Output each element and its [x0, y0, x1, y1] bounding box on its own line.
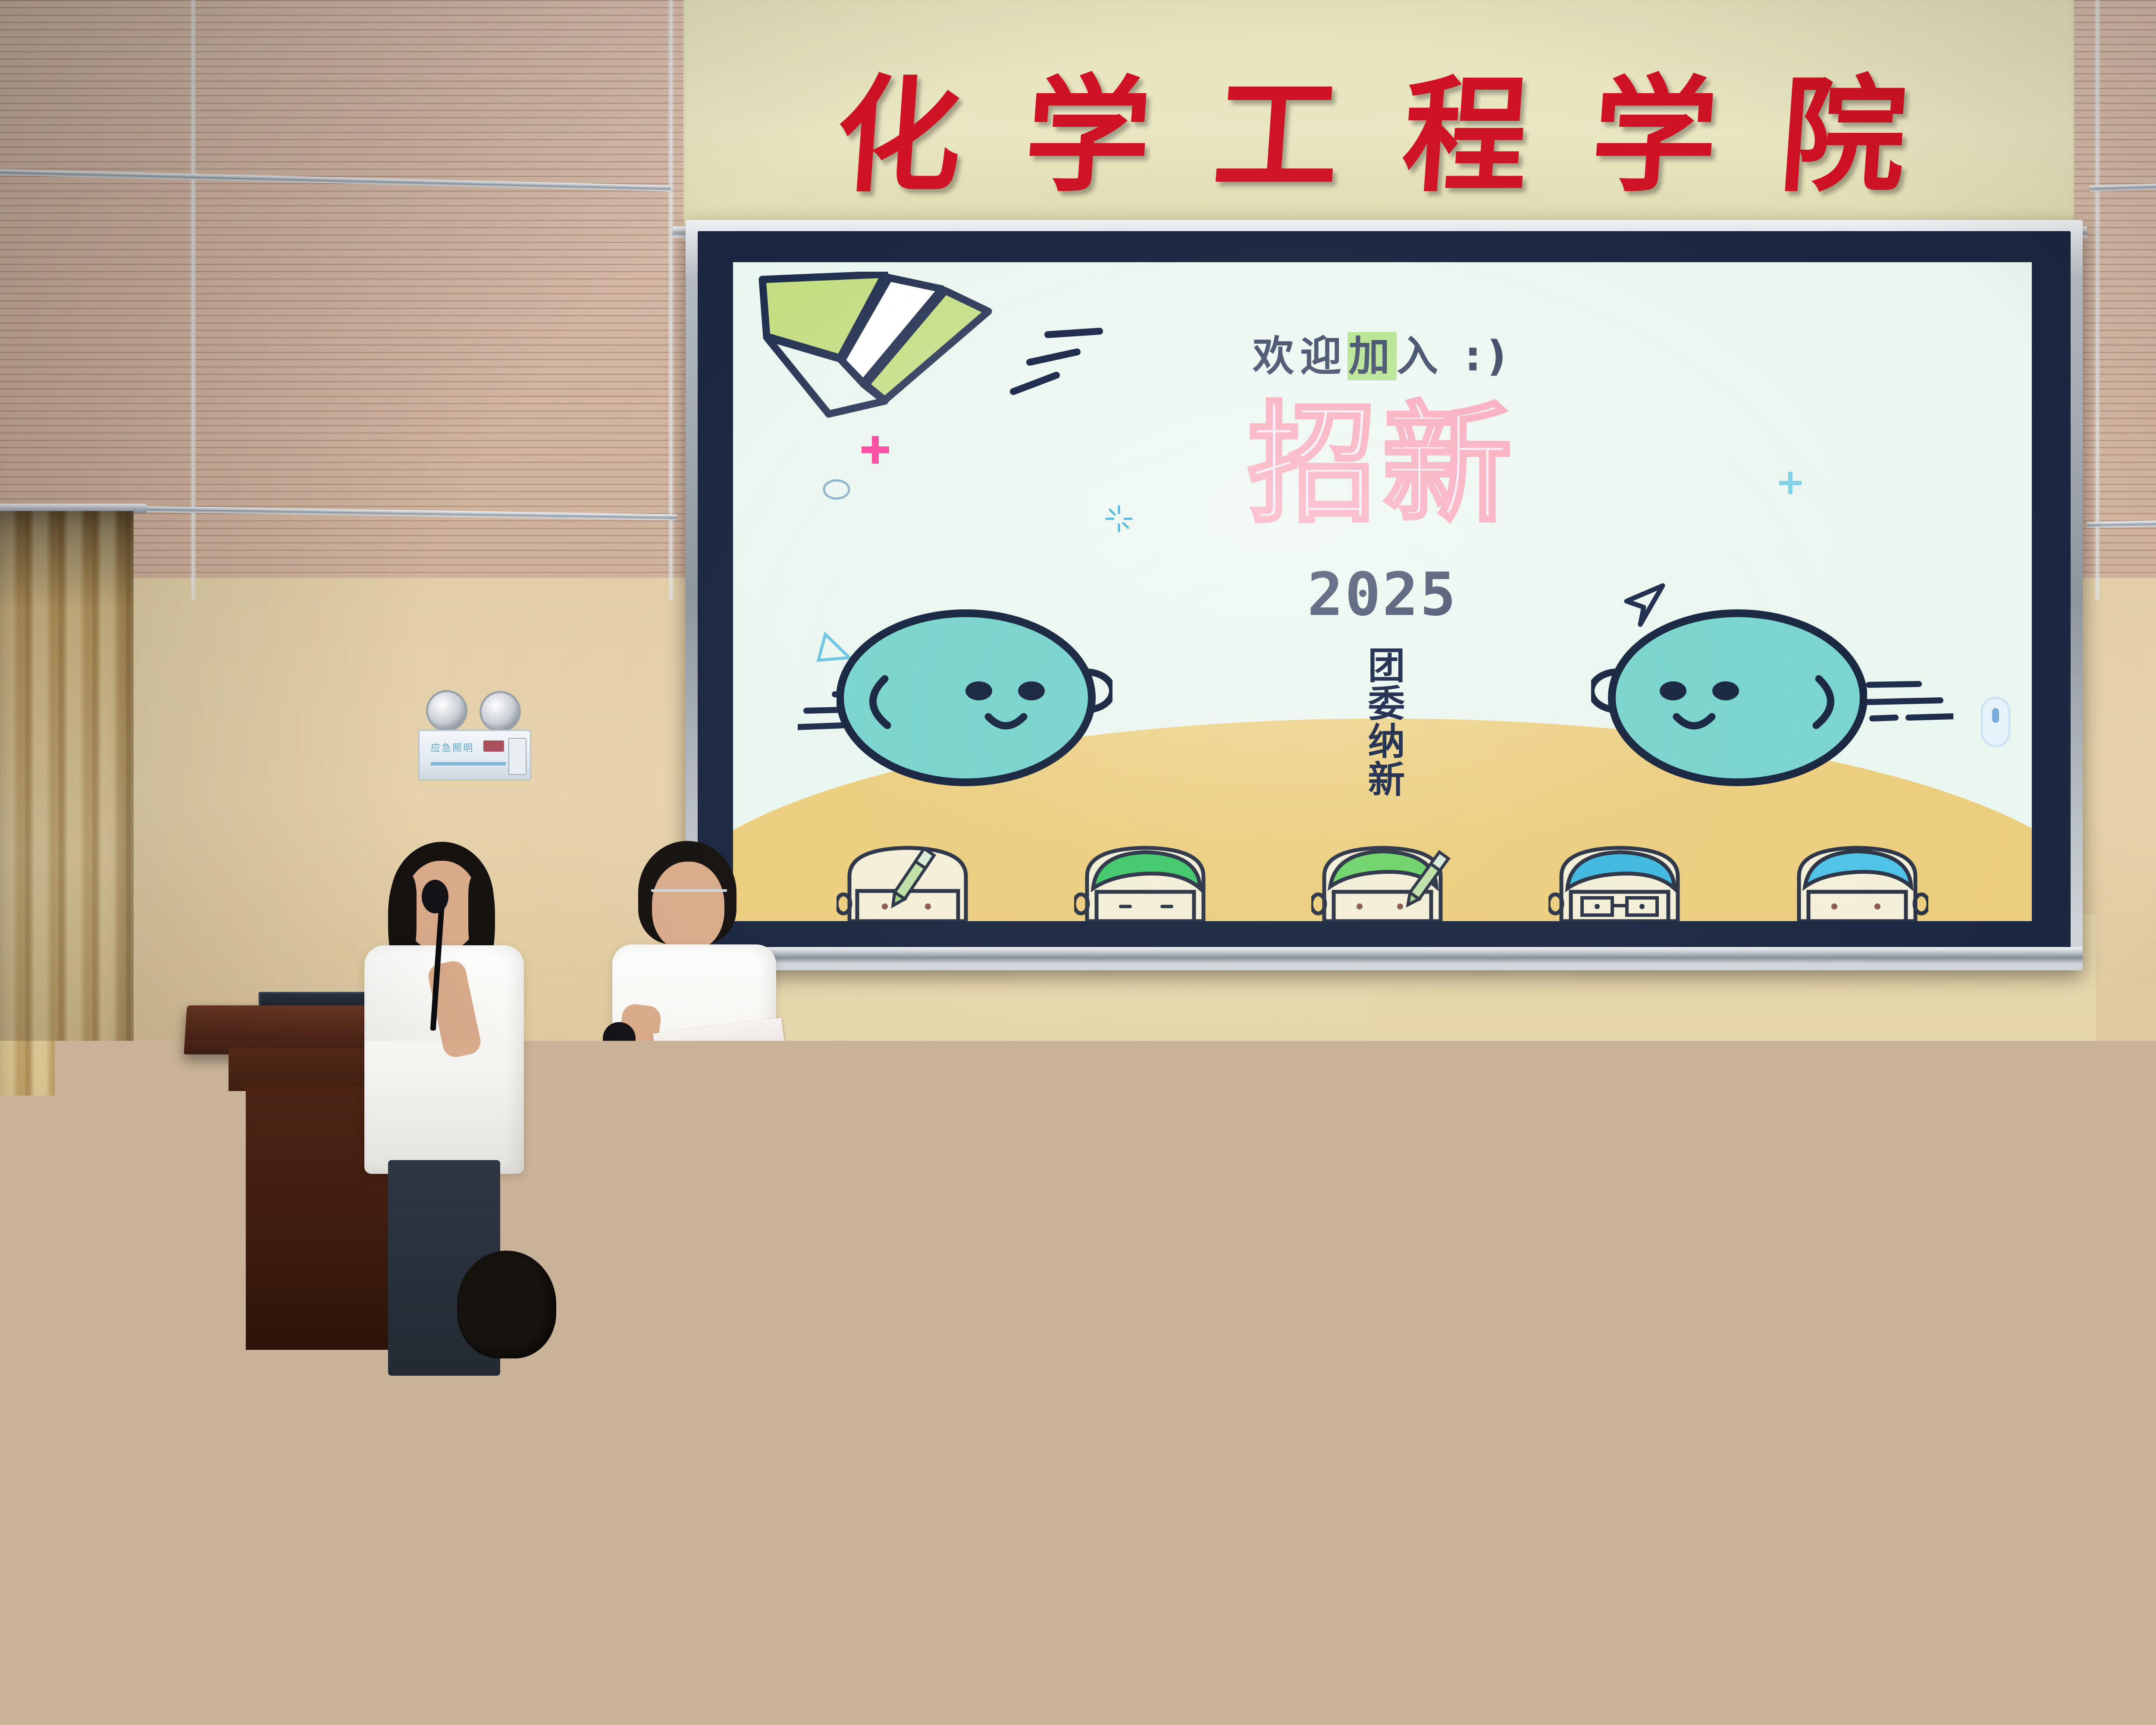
- emergency-lamp: [479, 691, 521, 732]
- audience-head: [129, 1238, 222, 1345]
- hall-title-char: 化: [832, 73, 966, 198]
- audience-head: [267, 1298, 397, 1440]
- audience-seat[interactable]: [431, 1501, 681, 1725]
- audience-seat[interactable]: [1031, 1345, 1225, 1518]
- welcome-text-pre: 欢迎: [1253, 332, 1347, 380]
- emergency-print-bar: [431, 762, 506, 765]
- audience-seat[interactable]: [1621, 1341, 1815, 1514]
- stage-curtain-left: [0, 511, 134, 1218]
- host-right-glasses: [651, 889, 727, 892]
- wall-seam: [2094, 0, 2101, 599]
- audience-head: [1755, 1223, 1848, 1330]
- mouse-pill-icon: [1975, 693, 2016, 750]
- seat-cushion: [18, 1358, 185, 1502]
- hall-title: 化 学 工 程 学 院: [819, 52, 1923, 220]
- student-head-1: [837, 844, 979, 921]
- hall-title-char: 学: [1588, 73, 1721, 198]
- seat-cushion: [1631, 1350, 1806, 1511]
- emergency-test-switch[interactable]: [508, 738, 526, 775]
- floor-monitor-speaker: [9, 1195, 123, 1337]
- auditorium-photo: 化 学 工 程 学 院: [0, 0, 2156, 1725]
- plus-sign-icon: [858, 433, 893, 467]
- emergency-light-label: 应急照明: [431, 740, 474, 754]
- audience-head: [1263, 1289, 1393, 1436]
- seat-armrest: [276, 1673, 345, 1708]
- audience-seat[interactable]: [2018, 1570, 2156, 1725]
- student-head-5: [1786, 844, 1928, 921]
- seat-cushion: [2028, 1578, 2156, 1722]
- emergency-light-body: 应急照明: [418, 730, 531, 781]
- screen-bottom-trim: [690, 947, 2083, 964]
- seat-armrest: [987, 1479, 1044, 1507]
- audience-head: [716, 1552, 897, 1725]
- slide-student-heads-row: [733, 839, 2032, 921]
- mascot-face-right: [1591, 606, 1867, 792]
- audience-head: [849, 1255, 946, 1363]
- monitor-grille: [14, 1200, 118, 1332]
- seat-cushion: [441, 1509, 672, 1722]
- welcome-text-post: 入 :): [1397, 332, 1512, 380]
- student-head-2: [1074, 844, 1216, 921]
- seat-armrest: [1578, 1475, 1634, 1502]
- seat-cushion: [1872, 1345, 2047, 1507]
- welcome-text-highlight: 加: [1347, 332, 1397, 380]
- slide-welcome-line: 欢迎加入 :): [733, 323, 2032, 383]
- seat-armrest: [1690, 1634, 1746, 1662]
- projection-screen[interactable]: 欢迎加入 :) 招新 2025: [733, 262, 2032, 921]
- audience-head: [733, 1298, 858, 1440]
- host-left-mic-head[interactable]: [422, 880, 448, 913]
- student-head-4: [1548, 844, 1691, 921]
- small-circle-icon: [821, 478, 852, 501]
- back-wall-center-lower: [673, 914, 2096, 1302]
- emergency-lamp: [426, 690, 467, 731]
- emergency-light-left: 应急照明: [410, 690, 539, 789]
- sparkle-icon: [1104, 504, 1134, 534]
- slide-vertical-text: 团委纳新: [1363, 646, 1401, 798]
- hall-title-char: 程: [1399, 73, 1532, 198]
- hall-title-char: 学: [1021, 73, 1155, 198]
- audience-seat[interactable]: [9, 1350, 194, 1505]
- speaker-brand-label: EDIFIER: [741, 1233, 883, 1246]
- audience-head: [457, 1251, 556, 1358]
- seat-armrest: [1005, 1682, 1074, 1716]
- speed-dashes-icon: [1005, 327, 1112, 409]
- wall-seam: [667, 0, 674, 599]
- plus-sign-icon: [1777, 469, 1804, 497]
- host-right-head: [652, 862, 724, 950]
- emergency-indicator: [483, 740, 504, 752]
- hall-title-char: 院: [1777, 73, 1910, 198]
- student-head-3: [1311, 844, 1454, 921]
- seat-cushion: [1040, 1354, 1215, 1515]
- hall-title-char: 工: [1210, 73, 1344, 198]
- speaker-handle: [783, 1201, 843, 1214]
- slide-headline: 招新: [733, 400, 2032, 530]
- mascot-face-left: [837, 606, 1112, 792]
- host-right-legs: [634, 1164, 751, 1384]
